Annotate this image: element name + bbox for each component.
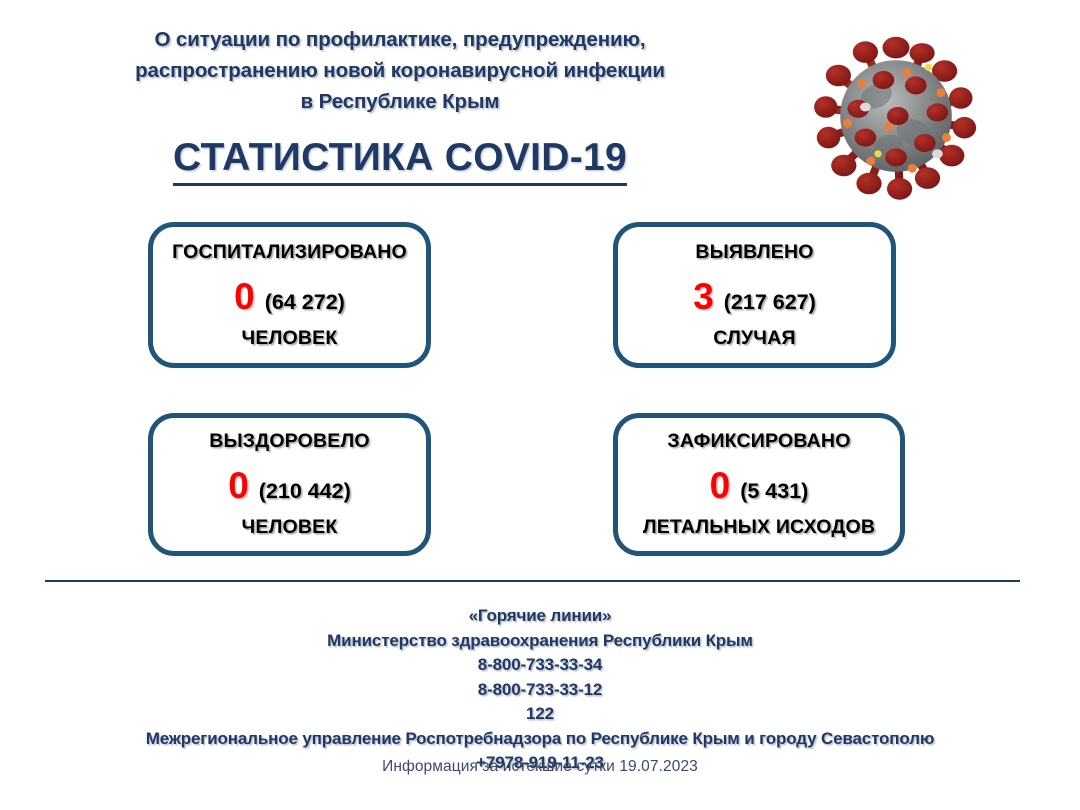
stat-total-value: (217 627) (724, 290, 816, 315)
ministry-name: Министерство здравоохранения Республики … (0, 629, 1080, 654)
stat-label: ВЫЗДОРОВЕЛО (209, 430, 370, 453)
section-divider (45, 580, 1020, 582)
stat-daily-value: 3 (693, 278, 714, 315)
stat-unit: ЛЕТАЛЬНЫХ ИСХОДОВ (643, 516, 875, 539)
stat-daily-value: 0 (710, 467, 731, 504)
stat-label: ЗАФИКСИРОВАНО (667, 430, 850, 453)
hotline-title: «Горячие линии» (0, 604, 1080, 629)
stat-unit: ЧЕЛОВЕК (242, 516, 338, 539)
stat-label: ГОСПИТАЛИЗИРОВАНО (172, 241, 407, 264)
stat-unit: ЧЕЛОВЕК (242, 327, 338, 350)
header-line-2: распространению новой коронавирусной инф… (0, 55, 800, 86)
footer-hotlines-block: «Горячие линии» Министерство здравоохран… (0, 604, 1080, 776)
stat-total-value: (64 272) (265, 290, 345, 315)
stat-box-deaths: ЗАФИКСИРОВАНО 0 (5 431) ЛЕТАЛЬНЫХ ИСХОДО… (613, 413, 905, 556)
stat-value-row: 0 (64 272) (234, 278, 345, 315)
stat-daily-value: 0 (234, 278, 255, 315)
information-date-note: Информация за истекшие сутки 19.07.2023 (0, 758, 1080, 776)
stat-daily-value: 0 (228, 467, 249, 504)
stat-unit: СЛУЧАЯ (713, 327, 795, 350)
stat-total-value: (5 431) (740, 479, 808, 504)
hotline-phone-1[interactable]: 8-800-733-33-34 (0, 653, 1080, 678)
stat-box-detected: ВЫЯВЛЕНО 3 (217 627) СЛУЧАЯ (613, 222, 896, 368)
stat-box-recovered: ВЫЗДОРОВЕЛО 0 (210 442) ЧЕЛОВЕК (148, 413, 431, 556)
rospotrebnadzor-name: Межрегиональное управление Роспотребнадз… (0, 727, 1080, 752)
hotline-phone-3[interactable]: 122 (0, 702, 1080, 727)
coronavirus-illustration (806, 16, 986, 216)
header-subtitle-block: О ситуации по профилактике, предупрежден… (0, 24, 800, 117)
stat-box-hospitalized: ГОСПИТАЛИЗИРОВАНО 0 (64 272) ЧЕЛОВЕК (148, 222, 431, 368)
page-title: СТАТИСТИКА COVID-19 (0, 136, 800, 186)
header-line-1: О ситуации по профилактике, предупрежден… (0, 24, 800, 55)
stat-total-value: (210 442) (259, 479, 351, 504)
stat-value-row: 0 (5 431) (710, 467, 809, 504)
hotline-phone-2[interactable]: 8-800-733-33-12 (0, 678, 1080, 703)
stat-label: ВЫЯВЛЕНО (695, 241, 813, 264)
stat-value-row: 0 (210 442) (228, 467, 351, 504)
stat-value-row: 3 (217 627) (693, 278, 816, 315)
header-line-3: в Республике Крым (0, 86, 800, 117)
page-title-text: СТАТИСТИКА COVID-19 (173, 136, 627, 186)
